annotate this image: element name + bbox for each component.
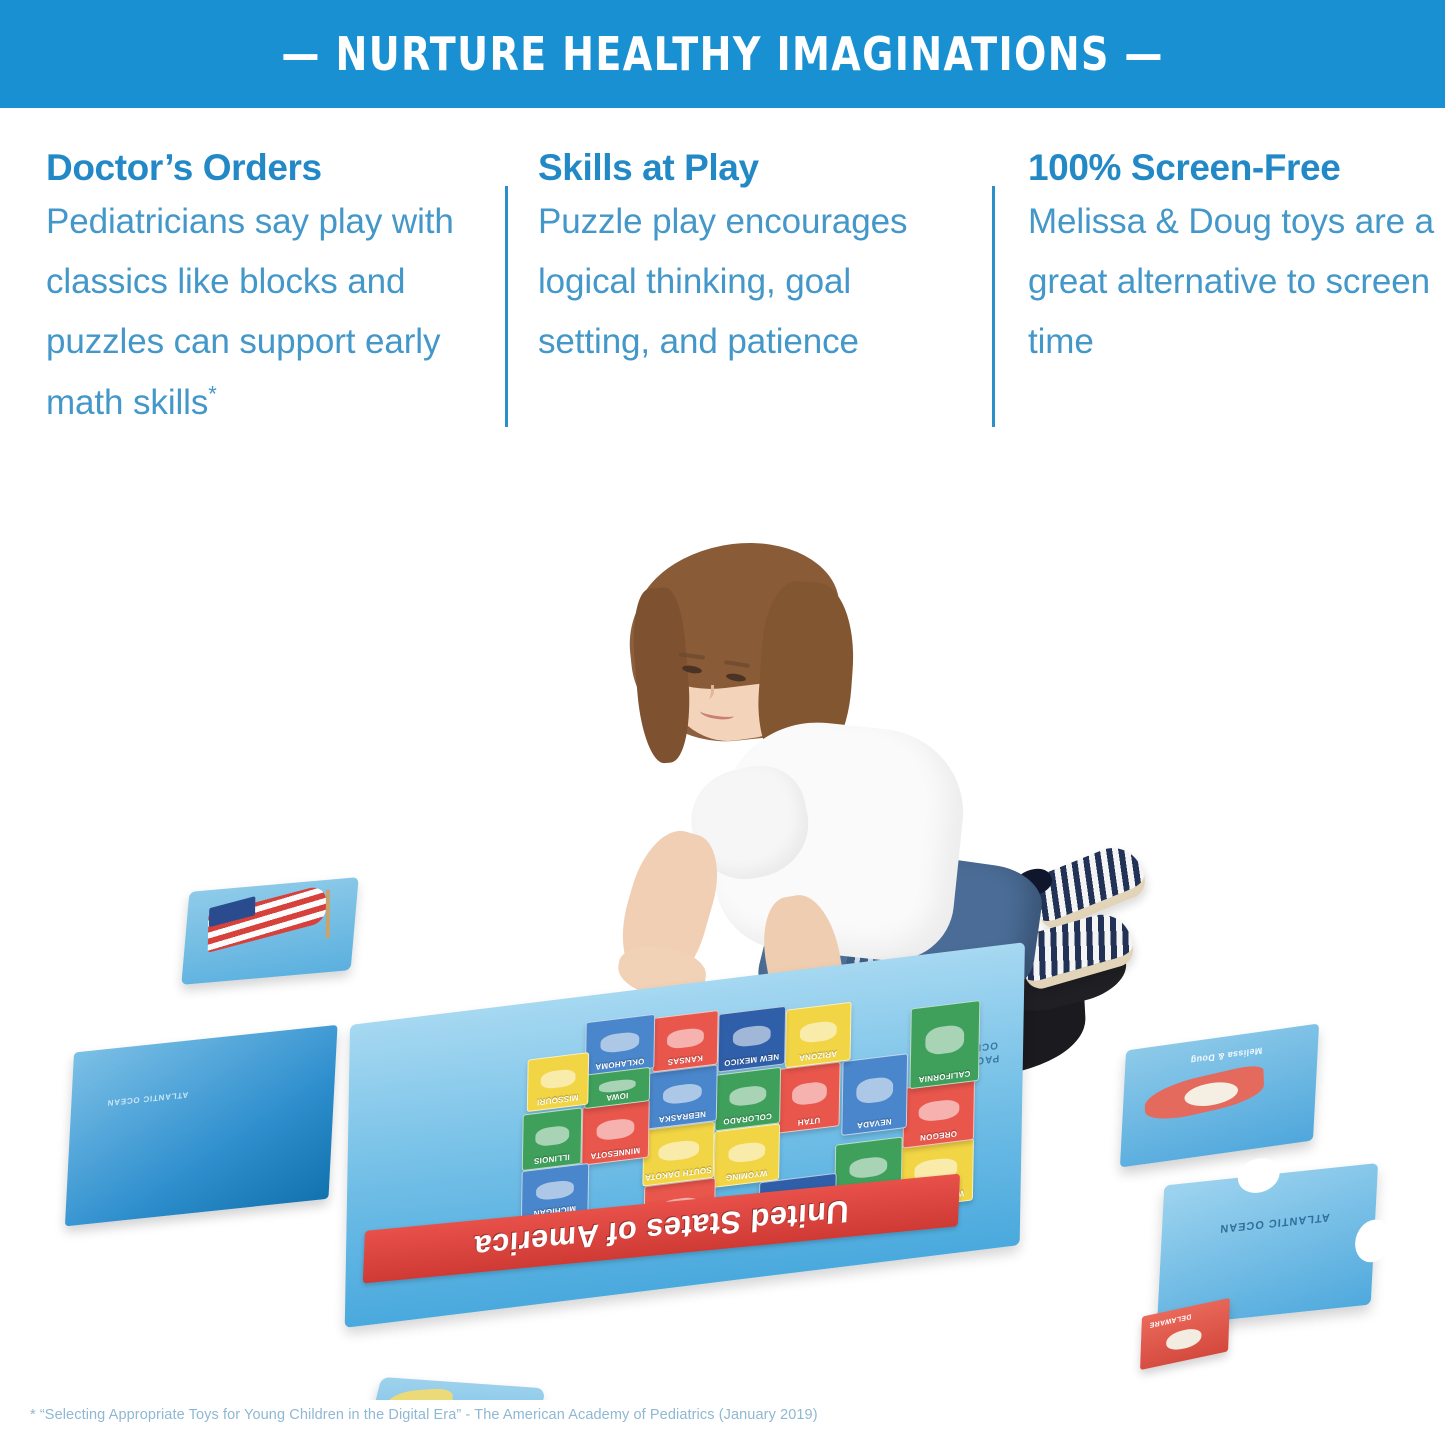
puzzle-piece-state[interactable]: OREGON bbox=[902, 1079, 975, 1148]
state-illustration bbox=[663, 1082, 702, 1105]
flag-pole bbox=[326, 890, 330, 939]
state-illustration bbox=[535, 1125, 569, 1148]
atlantic-ocean-label: ATLANTIC OCEAN bbox=[107, 1087, 189, 1111]
footnote-marker: * bbox=[208, 381, 216, 406]
puzzle-notch-right bbox=[1354, 1218, 1392, 1264]
piece-illustration bbox=[1166, 1326, 1202, 1352]
puzzle-piece-state[interactable]: ILLINOIS bbox=[522, 1107, 583, 1171]
puzzle-piece-state[interactable]: WYOMING bbox=[714, 1123, 780, 1188]
feature-heading: Doctor’s Orders bbox=[46, 148, 486, 188]
feature-column-skills-at-play: Skills at Play Puzzle play encourages lo… bbox=[538, 148, 968, 373]
state-illustration bbox=[856, 1076, 893, 1105]
puzzle-piece-alaska[interactable]: ALASKA bbox=[359, 1377, 546, 1400]
puzzle-piece-state[interactable]: KANSAS bbox=[652, 1010, 718, 1073]
state-illustration bbox=[667, 1027, 704, 1049]
puzzle-piece-state[interactable]: COLORADO bbox=[715, 1067, 781, 1132]
puzzle-piece-state[interactable]: UTAH bbox=[778, 1061, 841, 1133]
state-label: UTAH bbox=[779, 1113, 839, 1129]
state-illustration bbox=[792, 1081, 827, 1107]
state-illustration bbox=[918, 1098, 959, 1123]
state-illustration bbox=[536, 1179, 574, 1201]
state-label: MISSOURI bbox=[528, 1092, 588, 1108]
puzzle-piece-state[interactable]: MINNESOTA bbox=[581, 1099, 650, 1166]
puzzle-notch-top bbox=[1237, 1156, 1281, 1195]
puzzle-piece-state[interactable]: MISSOURI bbox=[527, 1052, 589, 1112]
product-photo: ALASKA ATLANTIC OCEAN PACIFIC OCEAN WASH… bbox=[0, 500, 1445, 1400]
state-illustration bbox=[596, 1117, 634, 1141]
atlantic-ocean-piece-label: ATLANTIC OCEAN bbox=[1219, 1208, 1330, 1236]
column-divider-1 bbox=[505, 186, 508, 427]
puzzle-piece-state[interactable]: SOUTH DAKOTA bbox=[642, 1121, 714, 1186]
puzzle-piece-state[interactable]: NEW MEXICO bbox=[718, 1006, 787, 1073]
brand-label: Melissa & Doug bbox=[1190, 1046, 1262, 1066]
puzzle-piece-state[interactable]: CALIFORNIA bbox=[909, 1000, 980, 1089]
feature-body: Puzzle play encourages logical thinking,… bbox=[538, 192, 968, 373]
header-banner: — NURTURE HEALTHY IMAGINATIONS — bbox=[0, 0, 1445, 108]
state-illustration bbox=[658, 1139, 699, 1162]
state-illustration bbox=[849, 1155, 887, 1180]
state-illustration bbox=[728, 1141, 765, 1164]
state-illustration bbox=[541, 1068, 576, 1089]
feature-heading: Skills at Play bbox=[538, 148, 968, 188]
state-illustration bbox=[729, 1084, 766, 1107]
atlantic-water-panel: ATLANTIC OCEAN bbox=[65, 1025, 338, 1227]
state-illustration bbox=[800, 1020, 837, 1044]
state-illustration bbox=[600, 1031, 639, 1054]
feature-column-screen-free: 100% Screen-Free Melissa & Doug toys are… bbox=[1028, 148, 1443, 373]
piece-label: DELAWARE bbox=[1149, 1312, 1191, 1328]
feature-body: Melissa & Doug toys are a great alternat… bbox=[1028, 192, 1443, 373]
alaska-landmass bbox=[385, 1388, 453, 1400]
puzzle-piece-state[interactable]: NEVADA bbox=[841, 1053, 908, 1136]
puzzle-piece-state[interactable]: ARIZONA bbox=[785, 1002, 852, 1069]
puzzle-piece-flag[interactable] bbox=[181, 877, 358, 985]
puzzle-piece-delaware[interactable]: DELAWARE bbox=[1140, 1298, 1230, 1370]
feature-heading: 100% Screen-Free bbox=[1028, 148, 1443, 188]
page-title: — NURTURE HEALTHY IMAGINATIONS — bbox=[281, 27, 1163, 81]
column-divider-2 bbox=[992, 186, 995, 427]
feature-body-text: Pediatricians say play with classics lik… bbox=[46, 202, 454, 422]
state-illustration bbox=[733, 1024, 771, 1048]
feature-body: Pediatricians say play with classics lik… bbox=[46, 192, 486, 433]
footnote: * “Selecting Appropriate Toys for Young … bbox=[0, 1407, 1445, 1423]
features-section: Doctor’s Orders Pediatricians say play w… bbox=[0, 108, 1445, 528]
feature-column-doctors-orders: Doctor’s Orders Pediatricians say play w… bbox=[46, 148, 486, 433]
puzzle-piece-atlantic-ocean[interactable]: ATLANTIC OCEAN bbox=[1157, 1163, 1378, 1327]
puzzle-piece-state[interactable]: NEBRASKA bbox=[647, 1064, 717, 1129]
state-illustration bbox=[925, 1024, 965, 1056]
